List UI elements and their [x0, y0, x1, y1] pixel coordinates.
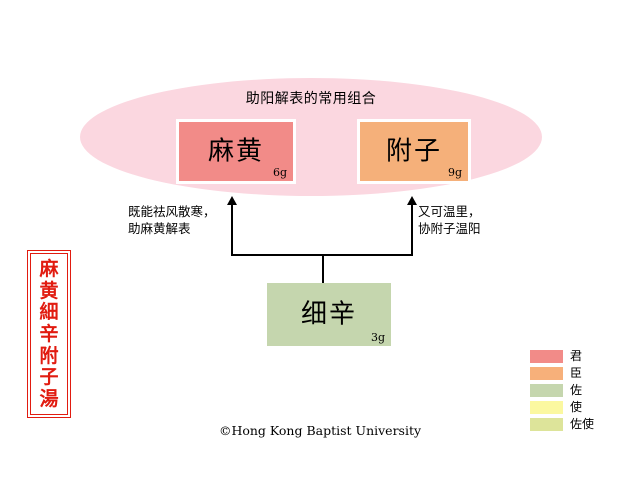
- seal-char: 子: [39, 367, 58, 387]
- legend-item: 佐: [530, 382, 610, 399]
- legend-swatch: [530, 367, 563, 380]
- seal-char: 細: [39, 302, 58, 322]
- seal-char: 黄: [39, 281, 58, 301]
- herb-name-fuzi: 附子: [360, 130, 468, 167]
- seal-char: 附: [39, 346, 58, 366]
- seal-char: 辛: [39, 324, 58, 344]
- formula-seal: 麻黄細辛附子湯: [27, 250, 71, 418]
- annotation-right: 又可温里， 协附子温阳: [418, 203, 528, 237]
- copyright-text: ©Hong Kong Baptist University: [0, 423, 640, 438]
- herb-dose-fuzi: 9g: [448, 166, 462, 179]
- herb-name-mahuang: 麻黄: [179, 130, 293, 167]
- herb-dose-mahuang: 6g: [273, 166, 287, 179]
- seal-char: 湯: [39, 389, 58, 409]
- legend-label: 使: [570, 401, 582, 414]
- legend-label: 臣: [570, 367, 582, 380]
- annotation-left: 既能祛风散寒， 助麻黄解表: [128, 203, 228, 237]
- connector-left-vertical: [231, 203, 233, 255]
- legend-item: 臣: [530, 365, 610, 382]
- herb-box-xixin[interactable]: 细辛 3g: [267, 283, 391, 346]
- legend-label: 佐: [570, 384, 582, 397]
- herb-name-xixin: 细辛: [267, 293, 391, 330]
- legend: 君臣佐使佐使: [530, 348, 610, 433]
- legend-swatch: [530, 384, 563, 397]
- legend-label: 君: [570, 350, 582, 363]
- legend-item: 君: [530, 348, 610, 365]
- ellipse-title: 助阳解表的常用组合: [80, 88, 542, 108]
- herb-box-mahuang[interactable]: 麻黄 6g: [176, 119, 296, 184]
- connector-right-vertical: [411, 203, 413, 255]
- diagram-canvas: 助阳解表的常用组合 麻黄 6g 附子 9g 既能祛风散寒， 助麻黄解表 又可温里…: [0, 0, 640, 480]
- herb-box-fuzi[interactable]: 附子 9g: [357, 119, 471, 184]
- herb-dose-xixin: 3g: [371, 331, 385, 344]
- legend-swatch: [530, 350, 563, 363]
- formula-seal-chars: 麻黄細辛附子湯: [31, 258, 67, 410]
- legend-swatch: [530, 401, 563, 414]
- seal-char: 麻: [39, 259, 58, 279]
- legend-item: 使: [530, 399, 610, 416]
- connector-stem: [322, 254, 324, 284]
